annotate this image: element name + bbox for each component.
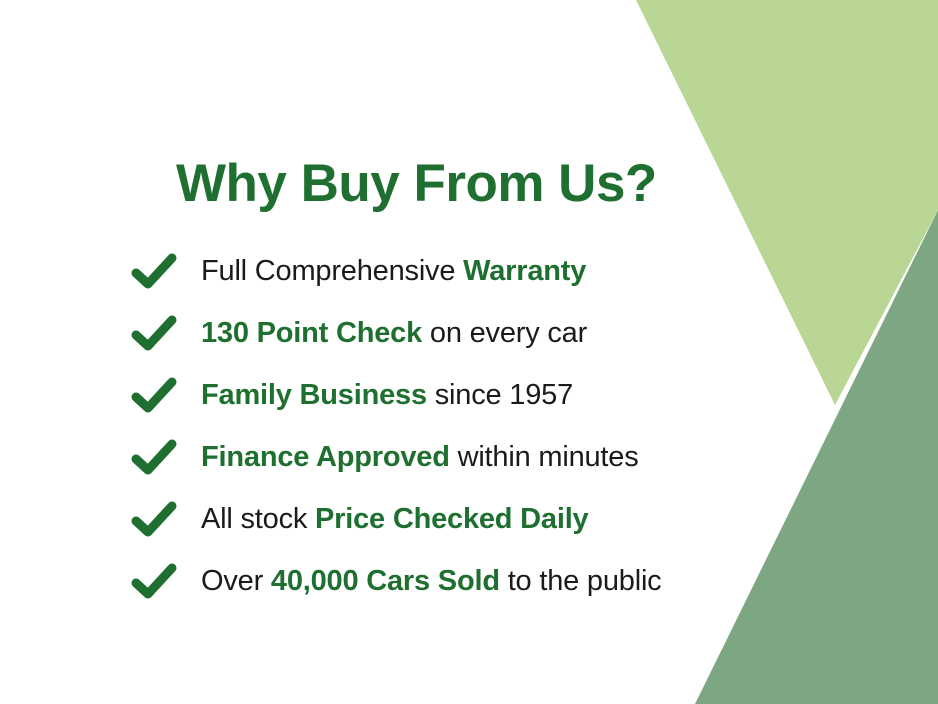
benefit-emphasis: 40,000 Cars Sold (271, 565, 500, 597)
benefit-emphasis: Warranty (463, 255, 586, 287)
benefit-item: Finance Approved within minutes (131, 426, 662, 488)
benefit-text: Family Business since 1957 (201, 378, 573, 412)
page-title: Why Buy From Us? (176, 155, 657, 213)
poster-content: Why Buy From Us? Full Comprehensive Warr… (0, 0, 938, 704)
benefits-list: Full Comprehensive Warranty130 Point Che… (131, 240, 662, 612)
benefit-text: Full Comprehensive Warranty (201, 254, 586, 288)
check-icon (131, 437, 177, 477)
benefit-plain: Full Comprehensive (201, 255, 463, 287)
benefit-plain: All stock (201, 503, 315, 535)
benefit-plain: Over (201, 565, 271, 597)
benefit-emphasis: Price Checked Daily (315, 503, 588, 535)
benefit-plain: since 1957 (427, 379, 573, 411)
check-icon (131, 375, 177, 415)
why-buy-from-us-poster: Why Buy From Us? Full Comprehensive Warr… (0, 0, 938, 704)
check-icon (131, 499, 177, 539)
benefit-emphasis: Family Business (201, 379, 427, 411)
check-icon (131, 251, 177, 291)
benefit-item: All stock Price Checked Daily (131, 488, 662, 550)
benefit-item: Over 40,000 Cars Sold to the public (131, 550, 662, 612)
benefit-item: 130 Point Check on every car (131, 302, 662, 364)
benefit-item: Full Comprehensive Warranty (131, 240, 662, 302)
check-icon (131, 561, 177, 601)
benefit-item: Family Business since 1957 (131, 364, 662, 426)
benefit-plain: within minutes (450, 441, 639, 473)
benefit-emphasis: 130 Point Check (201, 317, 422, 349)
benefit-text: Over 40,000 Cars Sold to the public (201, 564, 662, 598)
benefit-plain: to the public (500, 565, 662, 597)
check-icon (131, 313, 177, 353)
benefit-plain: on every car (422, 317, 587, 349)
benefit-text: Finance Approved within minutes (201, 440, 639, 474)
benefit-emphasis: Finance Approved (201, 441, 450, 473)
benefit-text: All stock Price Checked Daily (201, 502, 589, 536)
benefit-text: 130 Point Check on every car (201, 316, 587, 350)
